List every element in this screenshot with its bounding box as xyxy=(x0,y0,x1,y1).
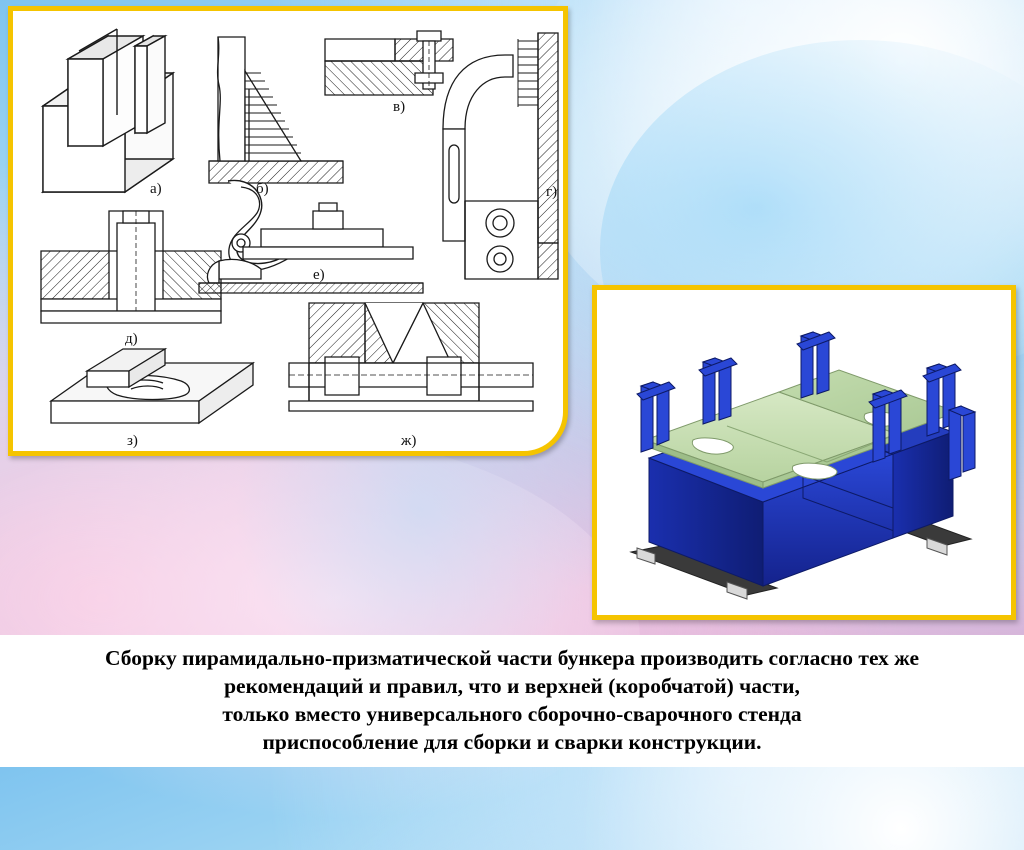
figure-label-g: г) xyxy=(546,184,557,200)
drawings-svg: а) xyxy=(13,11,563,451)
drawing-c: в) xyxy=(325,31,453,115)
drawing-zh: ж) xyxy=(289,303,533,449)
slide-caption: Сборку пирамидально-призматической части… xyxy=(0,635,1024,767)
drawing-e: е) xyxy=(199,180,423,293)
caption-line-2: рекомендаций и правил, что и верхней (ко… xyxy=(105,673,919,701)
figure-label-d: д) xyxy=(125,331,138,347)
figure-label-z: з) xyxy=(127,433,138,449)
figure-panel-fixture xyxy=(592,285,1016,620)
fixture-svg xyxy=(597,290,1011,615)
figure-label-zh: ж) xyxy=(400,433,416,449)
drawing-g: г) xyxy=(443,33,558,279)
caption-line-4: приспособление для сборки и сварки конст… xyxy=(105,729,919,757)
caption-text: Сборку пирамидально-призматической части… xyxy=(79,645,945,757)
figure-label-c: в) xyxy=(393,99,405,115)
figure-label-e: е) xyxy=(313,267,325,283)
figure-panel-drawings: а) xyxy=(8,6,568,456)
figure-label-a: а) xyxy=(150,181,162,197)
drawing-d: д) xyxy=(41,211,221,347)
drawing-z: з) xyxy=(51,349,253,449)
caption-line-3: только вместо универсального сборочно-св… xyxy=(105,701,919,729)
drawing-b: б) xyxy=(209,37,343,197)
drawing-a: а) xyxy=(43,29,173,197)
caption-line-1: Сборку пирамидально-призматической части… xyxy=(105,645,919,673)
